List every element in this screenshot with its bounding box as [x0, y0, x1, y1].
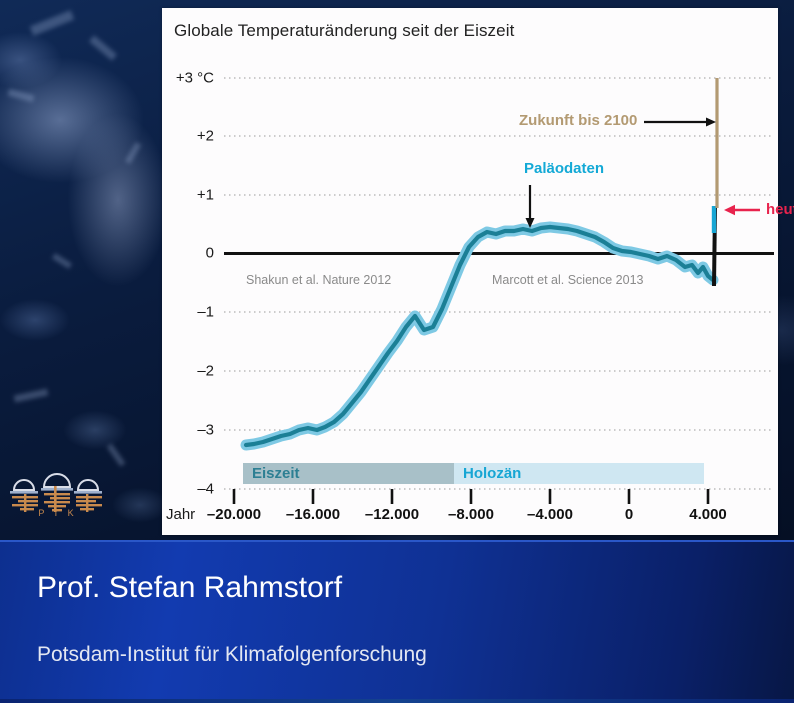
x-axis-ticks [234, 489, 708, 504]
x-tick-label: 0 [625, 506, 633, 523]
paleo-arrow-icon [526, 185, 535, 228]
speaker-affiliation: Potsdam-Institut für Klimafolgenforschun… [37, 643, 427, 667]
era-bar-eiszeit: Eiszeit [243, 463, 454, 484]
y-tick-label: –3 [162, 422, 214, 439]
y-tick-label: –1 [162, 304, 214, 321]
pik-logo-caption: P I K [8, 508, 108, 518]
y-tick-label: +3 °C [162, 70, 214, 87]
slide-root: P I K Globale Temperaturänderung seit de… [0, 0, 794, 703]
y-tick-label: +1 [162, 187, 214, 204]
era-bar-holozaen: Holozän [454, 463, 704, 484]
today-arrow-icon [724, 205, 760, 215]
x-tick-label: –12.000 [365, 506, 419, 523]
x-axis-title: Jahr [166, 506, 195, 523]
x-tick-label: –4.000 [527, 506, 573, 523]
speaker-name: Prof. Stefan Rahmstorf [37, 571, 342, 605]
x-tick-label: –20.000 [207, 506, 261, 523]
citation-marcott: Marcott et al. Science 2013 [492, 273, 643, 287]
annotation-paleo: Paläodaten [524, 160, 604, 177]
chart-plot [162, 8, 778, 535]
x-tick-label: –8.000 [448, 506, 494, 523]
x-tick-label: –16.000 [286, 506, 340, 523]
y-tick-label: 0 [162, 245, 214, 262]
x-tick-label: 4.000 [689, 506, 727, 523]
annotation-future: Zukunft bis 2100 [519, 112, 637, 129]
y-tick-label: +2 [162, 128, 214, 145]
citation-shakun: Shakun et al. Nature 2012 [246, 273, 391, 287]
y-tick-label: –4 [162, 481, 214, 498]
annotation-today: heute [766, 201, 794, 218]
future-arrow-icon [644, 118, 716, 127]
uncertainty-band [246, 227, 713, 445]
speaker-banner: Prof. Stefan Rahmstorf Potsdam-Institut … [0, 540, 794, 703]
pik-logo-icon [8, 470, 108, 528]
chart-panel: Globale Temperaturänderung seit der Eisz… [162, 8, 778, 535]
y-tick-label: –2 [162, 363, 214, 380]
